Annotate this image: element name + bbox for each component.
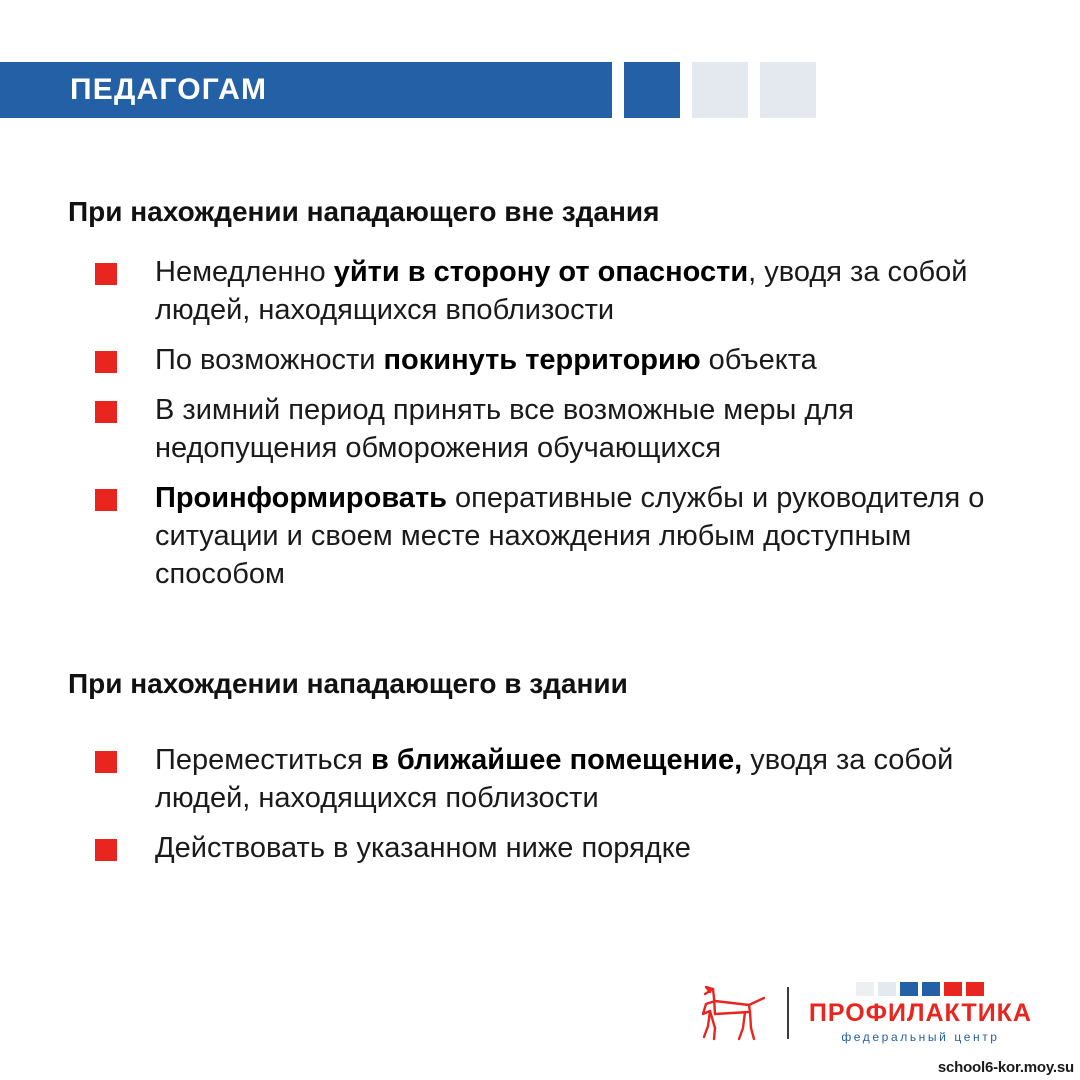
section-outside: При нахождении нападающего вне здания Не… [0,118,1080,594]
section-heading: При нахождении нападающего в здании [0,606,1080,700]
bullet-text: Проинформировать оперативные службы и ру… [155,480,1035,594]
brand-square [966,982,984,996]
list-item: В зимний период принять все возможные ме… [0,392,1080,468]
bullet-text: По возможности покинуть территорию объек… [155,342,817,380]
bullet-list-inside: Переместиться в ближайшее помещение, уво… [0,742,1080,868]
brand-square [878,982,896,996]
section-heading: При нахождении нападающего вне здания [0,118,1080,228]
list-item: Немедленно уйти в сторону от опасности, … [0,254,1080,330]
content-area: При нахождении нападающего вне здания Не… [0,118,1080,880]
brand-square [944,982,962,996]
slide-root: ПЕДАГОГАМ При нахождении нападающего вне… [0,0,1080,1080]
brand-square-strip [856,982,984,996]
bullet-square-icon [95,489,117,511]
header-accent-square-2 [692,62,748,118]
list-item: По возможности покинуть территорию объек… [0,342,1080,380]
brand-square [856,982,874,996]
bullet-square-icon [95,401,117,423]
bullet-text: Переместиться в ближайшее помещение, уво… [155,742,1035,818]
bullet-square-icon [95,839,117,861]
section-inside: При нахождении нападающего в здании Пере… [0,606,1080,868]
bullet-square-icon [95,263,117,285]
header-accent-square-1 [624,62,680,118]
header-band: ПЕДАГОГАМ [0,62,1080,118]
header-accent-square-3 [760,62,816,118]
page-title: ПЕДАГОГАМ [70,73,267,107]
bullet-text: В зимний период принять все возможные ме… [155,392,1035,468]
header-title-bar: ПЕДАГОГАМ [0,62,612,118]
bullet-text: Немедленно уйти в сторону от опасности, … [155,254,1035,330]
logo-divider [787,987,789,1039]
brand-name: ПРОФИЛАКТИКА [809,1001,1032,1026]
list-item: Действовать в указанном ниже порядке [0,830,1080,868]
deer-line-art-icon [693,984,767,1042]
bullet-square-icon [95,351,117,373]
bullet-square-icon [95,751,117,773]
brand-block: ПРОФИЛАКТИКА федеральный центр [809,982,1032,1044]
site-watermark: school6-kor.moy.su [930,1056,1080,1080]
bullet-list-outside: Немедленно уйти в сторону от опасности, … [0,254,1080,594]
bullet-text: Действовать в указанном ниже порядке [155,830,691,868]
list-item: Переместиться в ближайшее помещение, уво… [0,742,1080,818]
logo-lockup: ПРОФИЛАКТИКА федеральный центр [693,982,1032,1044]
brand-square [900,982,918,996]
list-item: Проинформировать оперативные службы и ру… [0,480,1080,594]
brand-square [922,982,940,996]
brand-subtitle: федеральный центр [841,1030,999,1044]
footer-logo-area: ПРОФИЛАКТИКА федеральный центр [0,982,1080,1044]
